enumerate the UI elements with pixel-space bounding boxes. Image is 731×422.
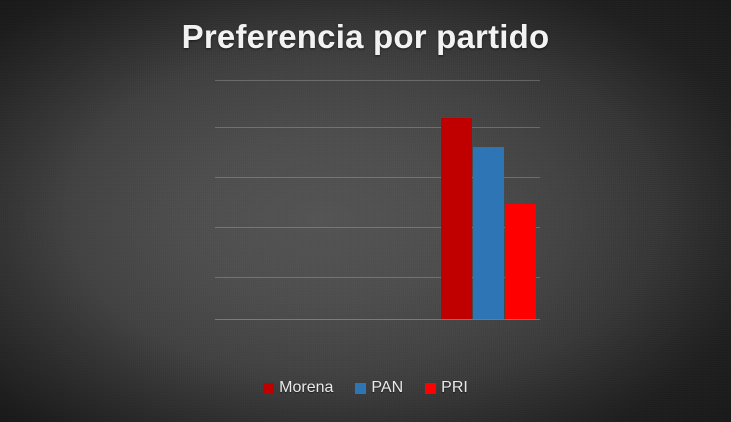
chart-slide: Preferencia por partido Morena PAN PRI — [0, 0, 731, 422]
bar-group — [215, 80, 540, 319]
legend-item-pri[interactable]: PRI — [425, 380, 468, 396]
bar-morena[interactable] — [441, 118, 472, 319]
chart-legend: Morena PAN PRI — [0, 380, 731, 396]
legend-swatch-morena-icon — [263, 383, 274, 394]
legend-swatch-pri-icon — [425, 383, 436, 394]
plot-area — [215, 80, 540, 320]
legend-label-morena: Morena — [279, 380, 333, 396]
legend-item-morena[interactable]: Morena — [263, 380, 333, 396]
legend-item-pan[interactable]: PAN — [355, 380, 403, 396]
legend-label-pri: PRI — [441, 380, 468, 396]
chart-title: Preferencia por partido — [0, 18, 731, 56]
bar-pri[interactable] — [505, 204, 536, 319]
gridline-0-baseline — [215, 319, 540, 320]
legend-swatch-pan-icon — [355, 383, 366, 394]
bar-pan[interactable] — [473, 147, 504, 319]
legend-label-pan: PAN — [371, 380, 403, 396]
